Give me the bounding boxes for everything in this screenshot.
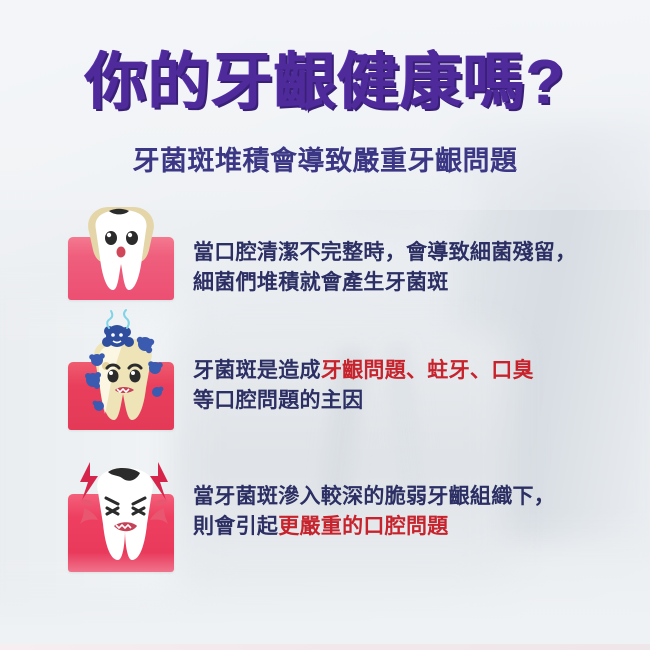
highlight-text: 更嚴重的口腔問題 (278, 515, 448, 538)
background-bottom-stripe (0, 644, 650, 650)
info-text-1: 當口腔清潔不完整時，會導致細菌殘留， 細菌們堆積就會產生牙菌斑 (193, 238, 613, 299)
info-row-2: 牙菌斑是造成牙齦問題、蛀牙、口臭 等口腔問題的主因 (0, 320, 650, 445)
mouth-1 (117, 247, 126, 258)
text-line-2-1: 牙菌斑是造成牙齦問題、蛀牙、口臭 (193, 356, 613, 386)
pain-bolt-right (150, 462, 168, 500)
info-row-1: 當口腔清潔不完整時，會導致細菌殘留， 細菌們堆積就會產生牙菌斑 (0, 200, 650, 320)
body-text: 等口腔問題的主因 (193, 389, 363, 412)
text-line-2-2: 等口腔問題的主因 (193, 386, 613, 416)
germ-small-2e (152, 387, 163, 397)
poster-canvas: 你的牙齦健康嗎? 牙菌斑堆積會導致嚴重牙齦問題 當口腔清潔不完整時，會導致細菌殘… (0, 0, 650, 650)
illustration-tooth-with-germs-angry (68, 320, 174, 445)
illustration-tooth-with-plaque-worried (68, 200, 174, 320)
eye-right-1 (126, 231, 138, 245)
eye-left-1 (105, 231, 117, 245)
pain-bolt-left (80, 462, 98, 500)
page-subtitle: 牙菌斑堆積會導致嚴重牙齦問題 (0, 148, 650, 175)
germ-small-2d (85, 372, 101, 389)
text-line-3-1: 當牙菌斑滲入較深的脆弱牙齦組織下， (193, 482, 613, 512)
eye-left-2 (108, 370, 119, 383)
eye-right-2 (130, 370, 141, 383)
body-text: 則會引起 (193, 515, 278, 538)
body-text: 當牙菌斑滲入較深的脆弱牙齦組織下， (193, 485, 555, 508)
highlight-text: 牙齦問題、蛀牙、口臭 (321, 359, 534, 382)
info-row-3: 當牙菌斑滲入較深的脆弱牙齦組織下， 則會引起更嚴重的口腔問題 (0, 452, 650, 582)
pain-burst-left (80, 499, 98, 524)
text-line-1-1: 當口腔清潔不完整時，會導致細菌殘留， (193, 238, 613, 268)
germ-small-2f (93, 401, 104, 411)
background-bottom-wash (0, 574, 650, 644)
text-line-1-2: 細菌們堆積就會產生牙菌斑 (193, 268, 613, 298)
body-text: 細菌們堆積就會產生牙菌斑 (193, 271, 449, 294)
text-line-3-2: 則會引起更嚴重的口腔問題 (193, 512, 613, 542)
body-text: 牙菌斑是造成 (193, 359, 321, 382)
pain-burst-right (150, 499, 168, 524)
germ-cluster-2 (102, 325, 134, 347)
info-text-3: 當牙菌斑滲入較深的脆弱牙齦組織下， 則會引起更嚴重的口腔問題 (193, 482, 613, 543)
body-text: 當口腔清潔不完整時，會導致細菌殘留， (193, 241, 576, 264)
germ-small-2c (148, 361, 163, 374)
info-text-2: 牙菌斑是造成牙齦問題、蛀牙、口臭 等口腔問題的主因 (193, 356, 613, 417)
tooth-1 (79, 202, 163, 298)
illustration-tooth-with-cavity-pain (68, 452, 174, 582)
page-title: 你的牙齦健康嗎? (0, 52, 650, 114)
tooth-2 (79, 326, 171, 430)
tooth-3 (78, 456, 172, 568)
